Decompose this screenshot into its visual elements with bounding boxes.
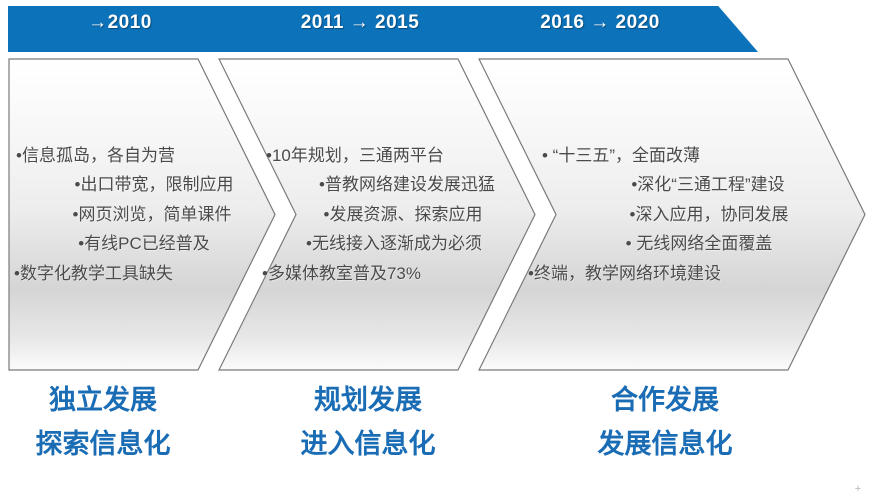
corner-marker-icon: + bbox=[854, 485, 862, 493]
caption-line: 发展信息化 bbox=[560, 422, 770, 466]
stage-chevron-3[interactable]: • “十三五”，全面改薄 •深化“三通工程”建设 •深入应用，协同发展 • 无线… bbox=[478, 58, 866, 371]
caption-line: 独立发展 bbox=[8, 378, 198, 422]
stage-2-caption: 规划发展 进入信息化 bbox=[268, 378, 468, 466]
slide-canvas: →2010 2011 → 2015 2016 → 2020 •信息孤岛，各自为营… bbox=[0, 0, 872, 501]
chevron-shape-3-icon bbox=[478, 58, 866, 371]
period-label-2: 2011 → 2015 bbox=[250, 6, 470, 40]
caption-line: 规划发展 bbox=[268, 378, 468, 422]
caption-line: 进入信息化 bbox=[268, 422, 468, 466]
caption-line: 探索信息化 bbox=[8, 422, 198, 466]
period-label-3: 2016 → 2020 bbox=[490, 6, 710, 40]
stage-1-caption: 独立发展 探索信息化 bbox=[8, 378, 198, 466]
period-label-1: →2010 bbox=[10, 6, 230, 40]
caption-line: 合作发展 bbox=[560, 378, 770, 422]
stage-3-caption: 合作发展 发展信息化 bbox=[560, 378, 770, 466]
